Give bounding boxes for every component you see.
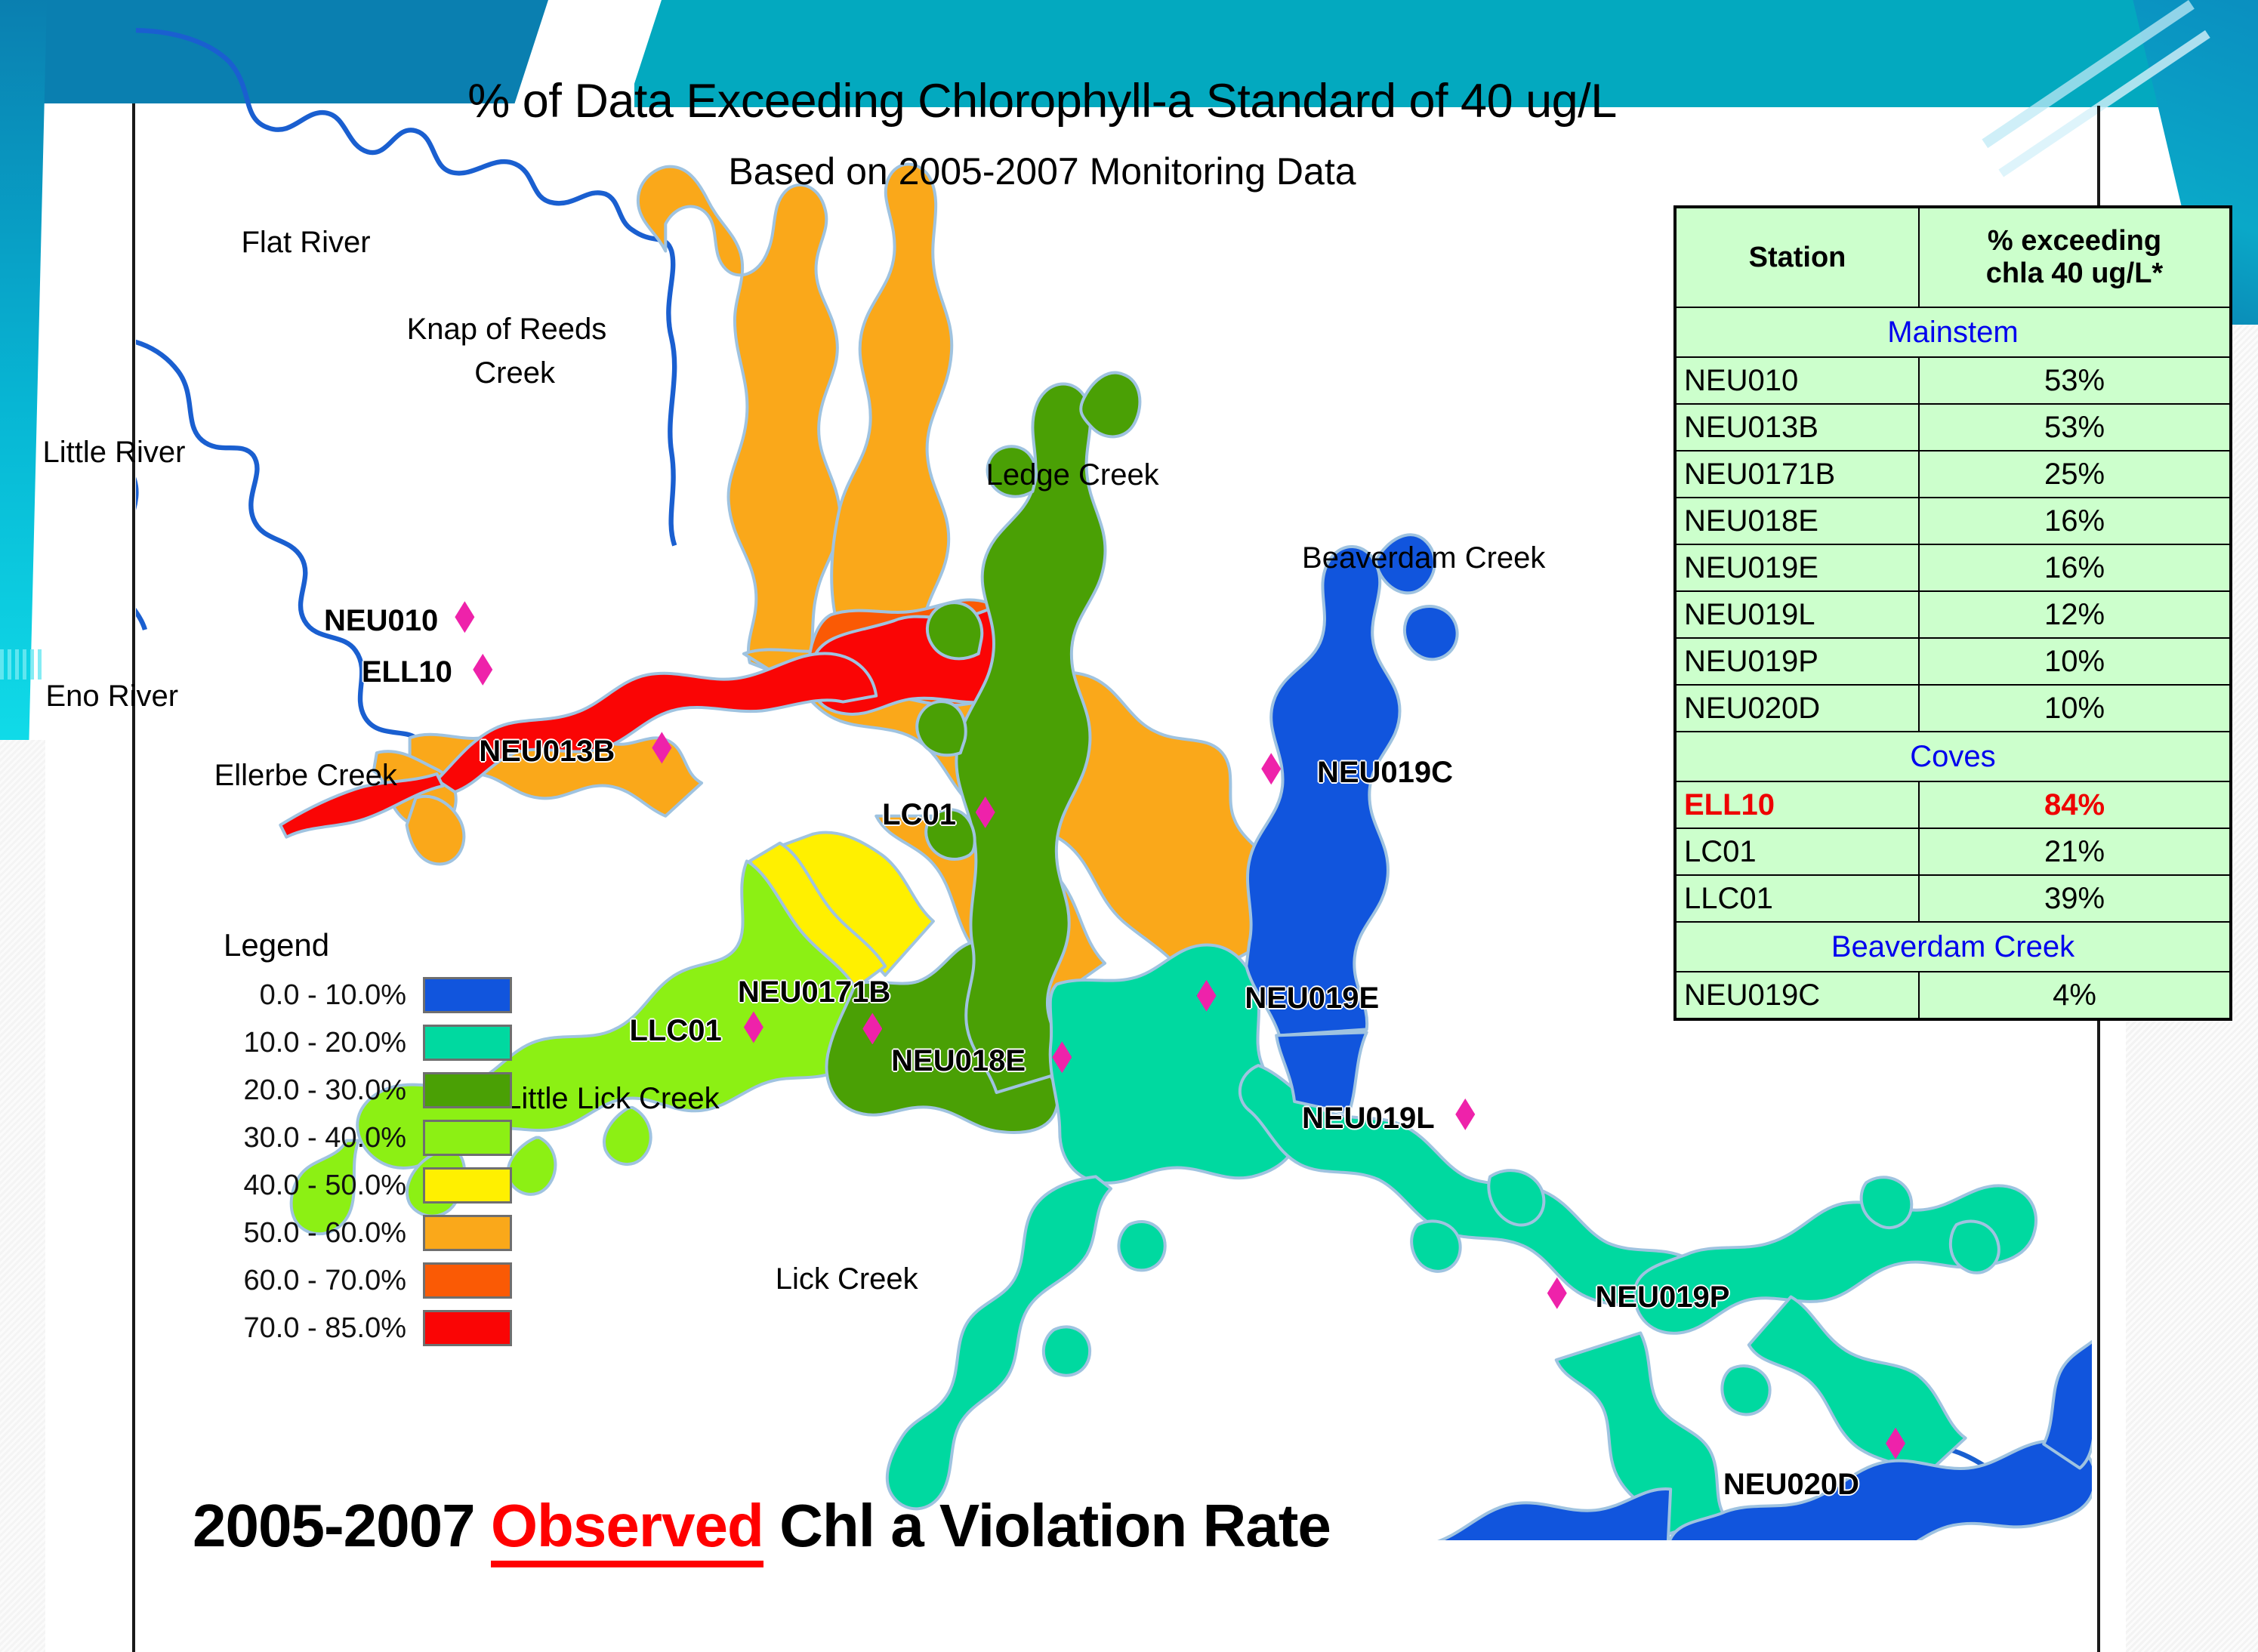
- table-row: NEU01053%: [1675, 357, 2231, 404]
- cell-station: NEU018E: [1675, 498, 1919, 544]
- cell-station: LC01: [1675, 828, 1919, 875]
- legend-color-swatch: [423, 1072, 512, 1108]
- legend-item-label: 70.0 - 85.0%: [217, 1312, 423, 1345]
- station-label-lc01: LC01: [882, 798, 956, 832]
- table-row: NEU018E16%: [1675, 498, 2231, 544]
- cell-station: NEU0171B: [1675, 451, 1919, 498]
- station-label-neu019e: NEU019E: [1245, 982, 1379, 1016]
- station-label-neu010: NEU010: [324, 604, 438, 638]
- caption-prefix: 2005-2007: [193, 1492, 491, 1559]
- page-title: % of Data Exceeding Chlorophyll-a Standa…: [408, 74, 1677, 128]
- legend-color-swatch: [423, 1167, 512, 1204]
- table-group-row: Coves: [1675, 732, 2231, 781]
- station-label-neu019p: NEU019P: [1596, 1281, 1730, 1315]
- legend-title: Legend: [224, 927, 512, 963]
- table-group-label: Coves: [1675, 732, 2231, 781]
- cell-percent: 4%: [1919, 972, 2231, 1019]
- legend-item-label: 10.0 - 20.0%: [217, 1027, 423, 1059]
- cell-percent: 25%: [1919, 451, 2231, 498]
- station-label-neu019l: NEU019L: [1302, 1102, 1435, 1136]
- legend-item-label: 0.0 - 10.0%: [217, 979, 423, 1012]
- legend-color-swatch: [423, 1262, 512, 1299]
- map-feature-label: Eno River: [45, 680, 178, 714]
- legend-item-label: 20.0 - 30.0%: [217, 1074, 423, 1107]
- table-row: NEU019P10%: [1675, 638, 2231, 685]
- legend-item: 10.0 - 20.0%: [217, 1022, 512, 1064]
- cell-station: NEU019E: [1675, 544, 1919, 591]
- cell-percent: 16%: [1919, 544, 2231, 591]
- map-feature-label: Little River: [42, 436, 185, 470]
- table-row: ELL1084%: [1675, 781, 2231, 828]
- legend-item-label: 50.0 - 60.0%: [217, 1217, 423, 1250]
- cell-station: LLC01: [1675, 875, 1919, 922]
- table-row: NEU019L12%: [1675, 591, 2231, 638]
- map-feature-label: Ledge Creek: [986, 458, 1159, 492]
- cell-station: ELL10: [1675, 781, 1919, 828]
- column-header-percent: % exceeding chla 40 ug/L*: [1919, 207, 2231, 307]
- legend-item-label: 60.0 - 70.0%: [217, 1265, 423, 1297]
- slide-canvas: Flat RiverKnap of ReedsCreekLittle River…: [0, 0, 2258, 1652]
- station-label-neu013b: NEU013B: [479, 735, 615, 769]
- legend-item-label: 30.0 - 40.0%: [217, 1122, 423, 1154]
- cell-percent: 39%: [1919, 875, 2231, 922]
- station-label-neu018e: NEU018E: [891, 1044, 1026, 1078]
- legend-color-swatch: [423, 1215, 512, 1251]
- map-feature-label: Ellerbe Creek: [214, 759, 397, 793]
- station-label-neu0171b: NEU0171B: [738, 975, 890, 1009]
- corner-accent-left: [0, 0, 47, 740]
- table-row: NEU0171B25%: [1675, 451, 2231, 498]
- column-header-percent-line1: % exceeding: [1988, 225, 2161, 257]
- map-feature-label: Beaverdam Creek: [1302, 541, 1545, 575]
- table-group-row: Beaverdam Creek: [1675, 922, 2231, 972]
- table-row: LC0121%: [1675, 828, 2231, 875]
- legend-color-swatch: [423, 1120, 512, 1156]
- station-exceedance-table: Station % exceeding chla 40 ug/L* Mainst…: [1673, 205, 2232, 1021]
- cell-station: NEU019C: [1675, 972, 1919, 1019]
- cell-percent: 10%: [1919, 685, 2231, 732]
- legend-item: 0.0 - 10.0%: [217, 974, 512, 1016]
- map-legend: Legend 0.0 - 10.0%10.0 - 20.0%20.0 - 30.…: [217, 927, 512, 1355]
- legend-item: 40.0 - 50.0%: [217, 1164, 512, 1207]
- map-feature-label: Little Lick Creek: [504, 1082, 720, 1116]
- caption-suffix: Chl a Violation Rate: [763, 1492, 1331, 1559]
- legend-item-label: 40.0 - 50.0%: [217, 1170, 423, 1202]
- legend-item: 30.0 - 40.0%: [217, 1117, 512, 1159]
- corner-dots-left: [0, 649, 42, 680]
- legend-rows: 0.0 - 10.0%10.0 - 20.0%20.0 - 30.0%30.0 …: [217, 974, 512, 1349]
- texture-panel-left: [0, 740, 45, 1652]
- table-header-row: Station % exceeding chla 40 ug/L*: [1675, 207, 2231, 307]
- column-header-percent-line2: chla 40 ug/L*: [1986, 257, 2163, 289]
- table-row: NEU019C4%: [1675, 972, 2231, 1019]
- station-label-neu020d: NEU020D: [1723, 1468, 1859, 1502]
- legend-color-swatch: [423, 977, 512, 1013]
- station-label-ell10: ELL10: [362, 655, 452, 689]
- cell-percent: 53%: [1919, 357, 2231, 404]
- legend-item: 70.0 - 85.0%: [217, 1307, 512, 1349]
- cell-percent: 12%: [1919, 591, 2231, 638]
- table-group-label: Mainstem: [1675, 307, 2231, 357]
- map-feature-label: Flat River: [241, 226, 370, 260]
- legend-item: 60.0 - 70.0%: [217, 1259, 512, 1302]
- cell-station: NEU020D: [1675, 685, 1919, 732]
- table-body: MainstemNEU01053%NEU013B53%NEU0171B25%NE…: [1675, 307, 2231, 1019]
- legend-color-swatch: [423, 1025, 512, 1061]
- cell-percent: 21%: [1919, 828, 2231, 875]
- cell-percent: 10%: [1919, 638, 2231, 685]
- station-label-llc01: LLC01: [629, 1014, 721, 1048]
- table-head: Station % exceeding chla 40 ug/L*: [1675, 207, 2231, 307]
- cell-station: NEU019P: [1675, 638, 1919, 685]
- legend-item: 20.0 - 30.0%: [217, 1069, 512, 1111]
- cell-station: NEU013B: [1675, 404, 1919, 451]
- frame-line-left: [132, 103, 135, 1652]
- cell-percent: 53%: [1919, 404, 2231, 451]
- caption-emphasis: Observed: [491, 1492, 763, 1567]
- table-row: NEU019E16%: [1675, 544, 2231, 591]
- legend-item: 50.0 - 60.0%: [217, 1212, 512, 1254]
- map-feature-label: Lick Creek: [776, 1262, 918, 1296]
- table-group-label: Beaverdam Creek: [1675, 922, 2231, 972]
- cell-station: NEU019L: [1675, 591, 1919, 638]
- cell-percent: 16%: [1919, 498, 2231, 544]
- page-subtitle: Based on 2005-2007 Monitoring Data: [408, 149, 1677, 193]
- table-row: NEU013B53%: [1675, 404, 2231, 451]
- legend-color-swatch: [423, 1310, 512, 1346]
- column-header-station: Station: [1675, 207, 1919, 307]
- slide-caption: 2005-2007 Observed Chl a Violation Rate: [193, 1491, 1331, 1561]
- table-group-row: Mainstem: [1675, 307, 2231, 357]
- cell-percent: 84%: [1919, 781, 2231, 828]
- station-label-neu019c: NEU019C: [1317, 756, 1453, 790]
- table-row: NEU020D10%: [1675, 685, 2231, 732]
- map-feature-label: Creek: [474, 356, 555, 390]
- cell-station: NEU010: [1675, 357, 1919, 404]
- table-row: LLC0139%: [1675, 875, 2231, 922]
- map-feature-label: Knap of Reeds: [407, 313, 607, 347]
